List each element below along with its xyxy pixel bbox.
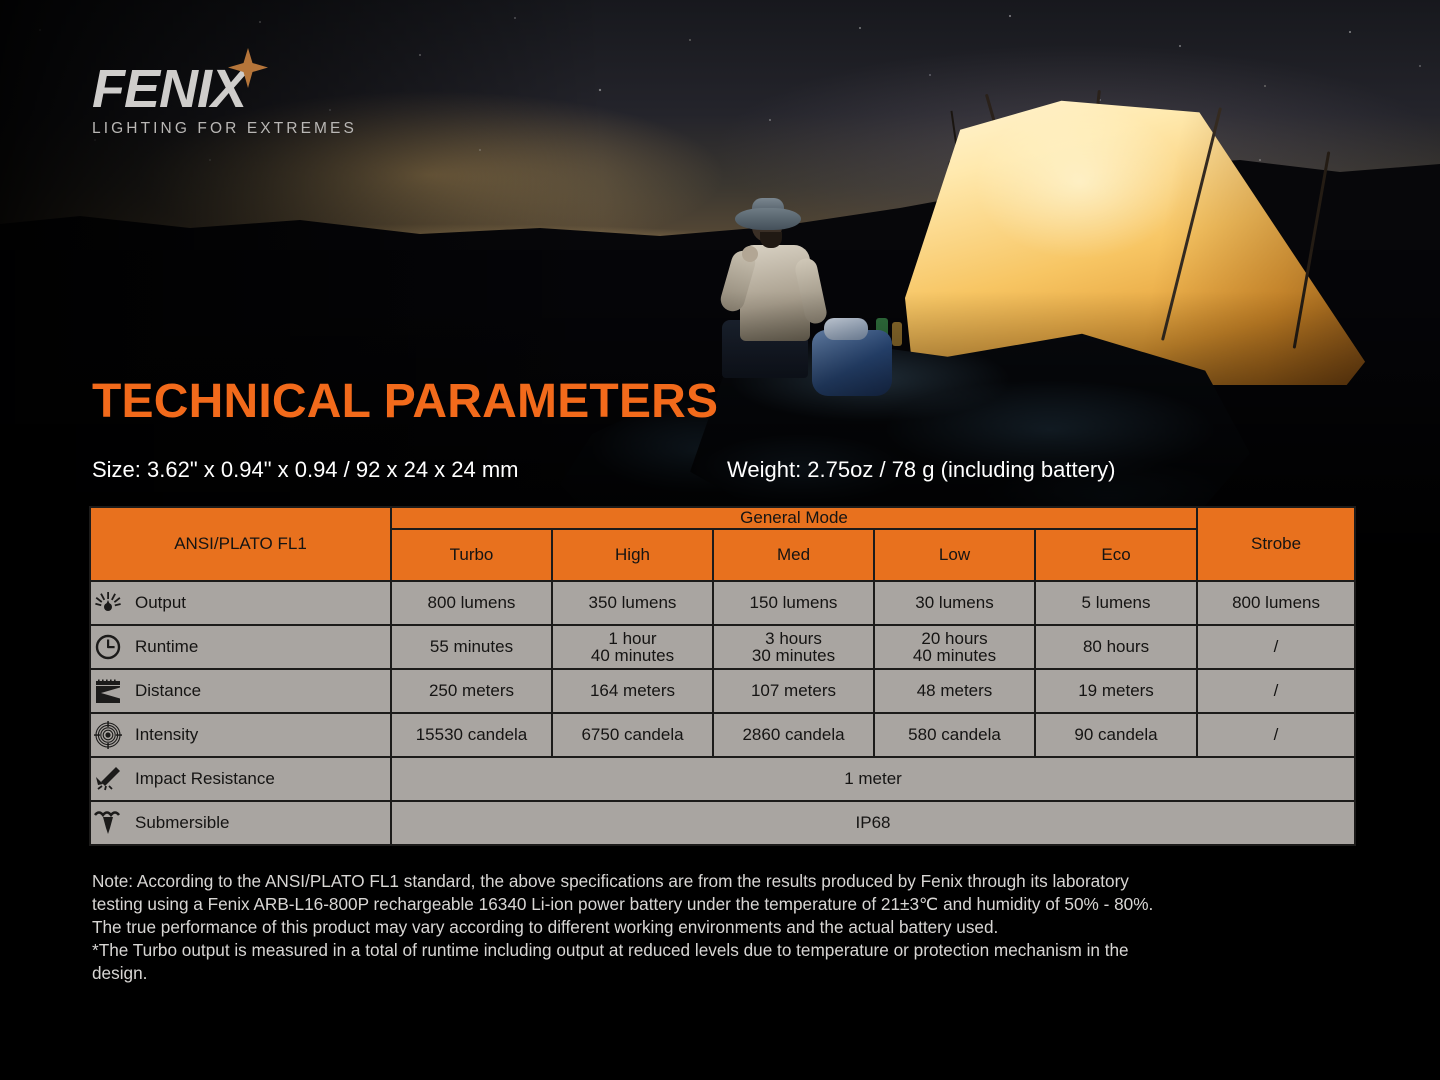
submersible-icon bbox=[91, 809, 125, 837]
cell-runtime-high: 1 hour40 minutes bbox=[552, 625, 713, 669]
row-label-intensity: Intensity bbox=[90, 713, 391, 757]
row-label-text: Runtime bbox=[135, 638, 198, 656]
footnote: Note: According to the ANSI/PLATO FL1 st… bbox=[92, 870, 1360, 984]
header-ansi-plato: ANSI/PLATO FL1 bbox=[90, 507, 391, 581]
header-mode-low: Low bbox=[874, 529, 1035, 581]
footnote-line-5: design. bbox=[92, 962, 1360, 985]
footnote-line-1: Note: According to the ANSI/PLATO FL1 st… bbox=[92, 870, 1360, 893]
cell-intensity-low: 580 candela bbox=[874, 713, 1035, 757]
table-row-submersible: Submersible IP68 bbox=[90, 801, 1355, 845]
technical-parameters-page: FENIX LIGHTING FOR EXTREMES TECHNICAL PA… bbox=[0, 0, 1440, 1080]
row-label-runtime: Runtime bbox=[90, 625, 391, 669]
table-row-impact-resistance: Impact Resistance 1 meter bbox=[90, 757, 1355, 801]
cell-intensity-strobe: / bbox=[1197, 713, 1355, 757]
cell-intensity-eco: 90 candela bbox=[1035, 713, 1197, 757]
cell-runtime-strobe: / bbox=[1197, 625, 1355, 669]
clock-icon bbox=[91, 633, 125, 661]
brand-tagline: LIGHTING FOR EXTREMES bbox=[92, 120, 422, 138]
size-spec: Size: 3.62" x 0.94" x 0.94 / 92 x 24 x 2… bbox=[92, 457, 519, 483]
footnote-line-3: The true performance of this product may… bbox=[92, 916, 1360, 939]
row-label-text: Intensity bbox=[135, 726, 198, 744]
row-label-text: Submersible bbox=[135, 814, 230, 832]
specifications-table: ANSI/PLATO FL1 General Mode Strobe Turbo… bbox=[89, 506, 1356, 846]
footnote-line-4: *The Turbo output is measured in a total… bbox=[92, 939, 1360, 962]
header-mode-med: Med bbox=[713, 529, 874, 581]
cell-distance-turbo: 250 meters bbox=[391, 669, 552, 713]
row-label-output: Output bbox=[90, 581, 391, 625]
cell-distance-high: 164 meters bbox=[552, 669, 713, 713]
header-general-mode: General Mode bbox=[391, 507, 1197, 529]
cell-distance-strobe: / bbox=[1197, 669, 1355, 713]
row-label-text: Impact Resistance bbox=[135, 770, 275, 788]
cell-runtime-med: 3 hours30 minutes bbox=[713, 625, 874, 669]
table-row-intensity: Intensity 15530 candela 6750 candela 286… bbox=[90, 713, 1355, 757]
header-mode-eco: Eco bbox=[1035, 529, 1197, 581]
row-label-text: Distance bbox=[135, 682, 201, 700]
sunburst-icon bbox=[91, 589, 125, 617]
cell-output-high: 350 lumens bbox=[552, 581, 713, 625]
line-1: 1 hour bbox=[608, 629, 656, 648]
line-2: 30 minutes bbox=[752, 646, 835, 665]
impact-drop-icon bbox=[91, 765, 125, 793]
row-label-distance: Distance bbox=[90, 669, 391, 713]
line-2: 40 minutes bbox=[913, 646, 996, 665]
table-row-output: Output 800 lumens 350 lumens 150 lumens … bbox=[90, 581, 1355, 625]
footnote-line-2: testing using a Fenix ARB-L16-800P recha… bbox=[92, 893, 1360, 916]
beam-distance-icon bbox=[91, 677, 125, 705]
cell-distance-eco: 19 meters bbox=[1035, 669, 1197, 713]
star-icon bbox=[228, 48, 268, 88]
header-strobe: Strobe bbox=[1197, 507, 1355, 581]
table-row-runtime: Runtime 55 minutes 1 hour40 minutes 3 ho… bbox=[90, 625, 1355, 669]
cell-output-eco: 5 lumens bbox=[1035, 581, 1197, 625]
cell-runtime-turbo: 55 minutes bbox=[391, 625, 552, 669]
cell-distance-low: 48 meters bbox=[874, 669, 1035, 713]
cell-intensity-med: 2860 candela bbox=[713, 713, 874, 757]
cell-submersible-value: IP68 bbox=[391, 801, 1355, 845]
page-title: TECHNICAL PARAMETERS bbox=[92, 378, 718, 426]
row-label-text: Output bbox=[135, 594, 186, 612]
cell-runtime-low: 20 hours40 minutes bbox=[874, 625, 1035, 669]
table-header-row-1: ANSI/PLATO FL1 General Mode Strobe bbox=[90, 507, 1355, 529]
row-label-submersible: Submersible bbox=[90, 801, 391, 845]
cell-output-strobe: 800 lumens bbox=[1197, 581, 1355, 625]
line-1: 20 hours bbox=[921, 629, 987, 648]
line-2: 40 minutes bbox=[591, 646, 674, 665]
table-row-distance: Distance 250 meters 164 meters 107 meter… bbox=[90, 669, 1355, 713]
header-mode-high: High bbox=[552, 529, 713, 581]
header-mode-turbo: Turbo bbox=[391, 529, 552, 581]
cell-distance-med: 107 meters bbox=[713, 669, 874, 713]
fenix-logo: FENIX LIGHTING FOR EXTREMES bbox=[92, 62, 422, 152]
cell-intensity-high: 6750 candela bbox=[552, 713, 713, 757]
cell-impact-resistance-value: 1 meter bbox=[391, 757, 1355, 801]
cell-output-med: 150 lumens bbox=[713, 581, 874, 625]
cell-runtime-eco: 80 hours bbox=[1035, 625, 1197, 669]
cell-output-low: 30 lumens bbox=[874, 581, 1035, 625]
cell-intensity-turbo: 15530 candela bbox=[391, 713, 552, 757]
target-intensity-icon bbox=[91, 721, 125, 749]
weight-spec: Weight: 2.75oz / 78 g (including battery… bbox=[727, 457, 1115, 483]
cell-output-turbo: 800 lumens bbox=[391, 581, 552, 625]
line-1: 3 hours bbox=[765, 629, 822, 648]
row-label-impact-resistance: Impact Resistance bbox=[90, 757, 391, 801]
